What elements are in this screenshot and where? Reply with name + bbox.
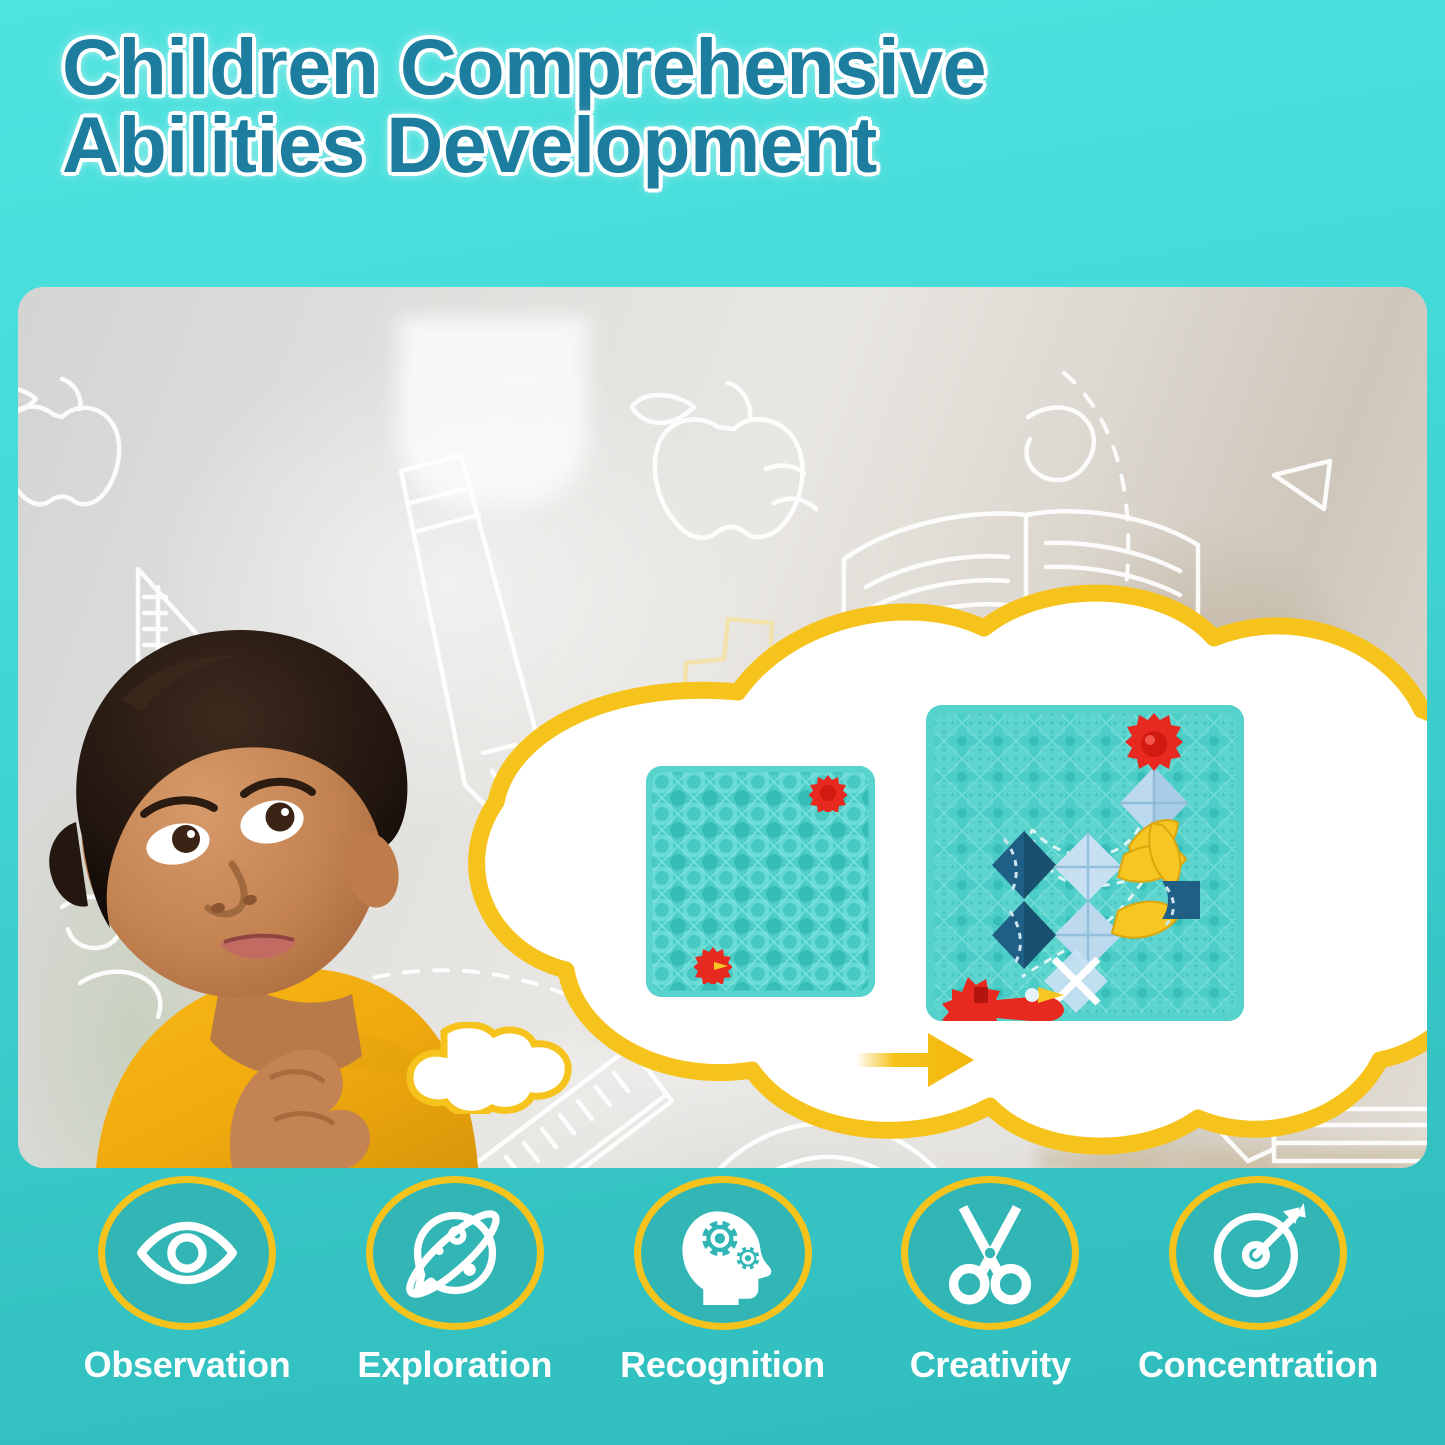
red-gear-piece bbox=[1125, 713, 1183, 771]
feature-icon-circle[interactable] bbox=[634, 1176, 812, 1330]
page-title: Children Comprehensive Abilities Develop… bbox=[62, 28, 1382, 184]
chair-blur bbox=[1073, 1167, 1159, 1168]
dark-blue-kite-piece bbox=[992, 901, 1056, 969]
chair-blur bbox=[1308, 1167, 1394, 1168]
feature-observation[interactable]: Observation bbox=[92, 1176, 282, 1416]
feature-label: Creativity bbox=[910, 1344, 1071, 1386]
page-title-line-1: Children Comprehensive bbox=[62, 28, 1382, 106]
feature-recognition[interactable]: Recognition bbox=[628, 1176, 818, 1416]
light-blue-diamond-piece bbox=[1054, 901, 1122, 969]
feature-row: Observation Exploration bbox=[0, 1176, 1445, 1416]
target-arrow-icon bbox=[1206, 1201, 1310, 1305]
feature-concentration[interactable]: Concentration bbox=[1163, 1176, 1353, 1416]
planet-icon bbox=[403, 1201, 507, 1305]
light-blue-diamond-piece bbox=[1054, 833, 1122, 901]
feature-exploration[interactable]: Exploration bbox=[360, 1176, 550, 1416]
scissors-icon bbox=[938, 1201, 1042, 1305]
head-gears-icon bbox=[671, 1201, 775, 1305]
red-gear-piece[interactable] bbox=[694, 946, 732, 984]
feature-creativity[interactable]: Creativity bbox=[895, 1176, 1085, 1416]
red-rocket-piece bbox=[942, 977, 1064, 1021]
red-gear-piece[interactable] bbox=[809, 774, 847, 812]
feature-label: Concentration bbox=[1138, 1344, 1378, 1386]
feature-icon-circle[interactable] bbox=[1169, 1176, 1347, 1330]
page-title-line-2: Abilities Development bbox=[62, 106, 1382, 184]
feature-label: Recognition bbox=[620, 1344, 825, 1386]
lamp-blur bbox=[398, 317, 588, 507]
hero-photo-panel bbox=[18, 287, 1427, 1168]
eye-icon bbox=[135, 1201, 239, 1305]
chair-blur bbox=[1193, 1167, 1279, 1168]
dark-blue-square-piece bbox=[1162, 881, 1200, 925]
feature-icon-circle[interactable] bbox=[366, 1176, 544, 1330]
feature-icon-circle[interactable] bbox=[98, 1176, 276, 1330]
feature-label: Exploration bbox=[357, 1344, 552, 1386]
feature-label: Observation bbox=[84, 1344, 291, 1386]
feature-icon-circle[interactable] bbox=[901, 1176, 1079, 1330]
progress-arrow bbox=[856, 1029, 976, 1091]
solved-puzzle-board[interactable] bbox=[926, 705, 1244, 1021]
placed-pieces bbox=[926, 705, 1244, 1021]
empty-puzzle-board[interactable] bbox=[646, 766, 875, 997]
